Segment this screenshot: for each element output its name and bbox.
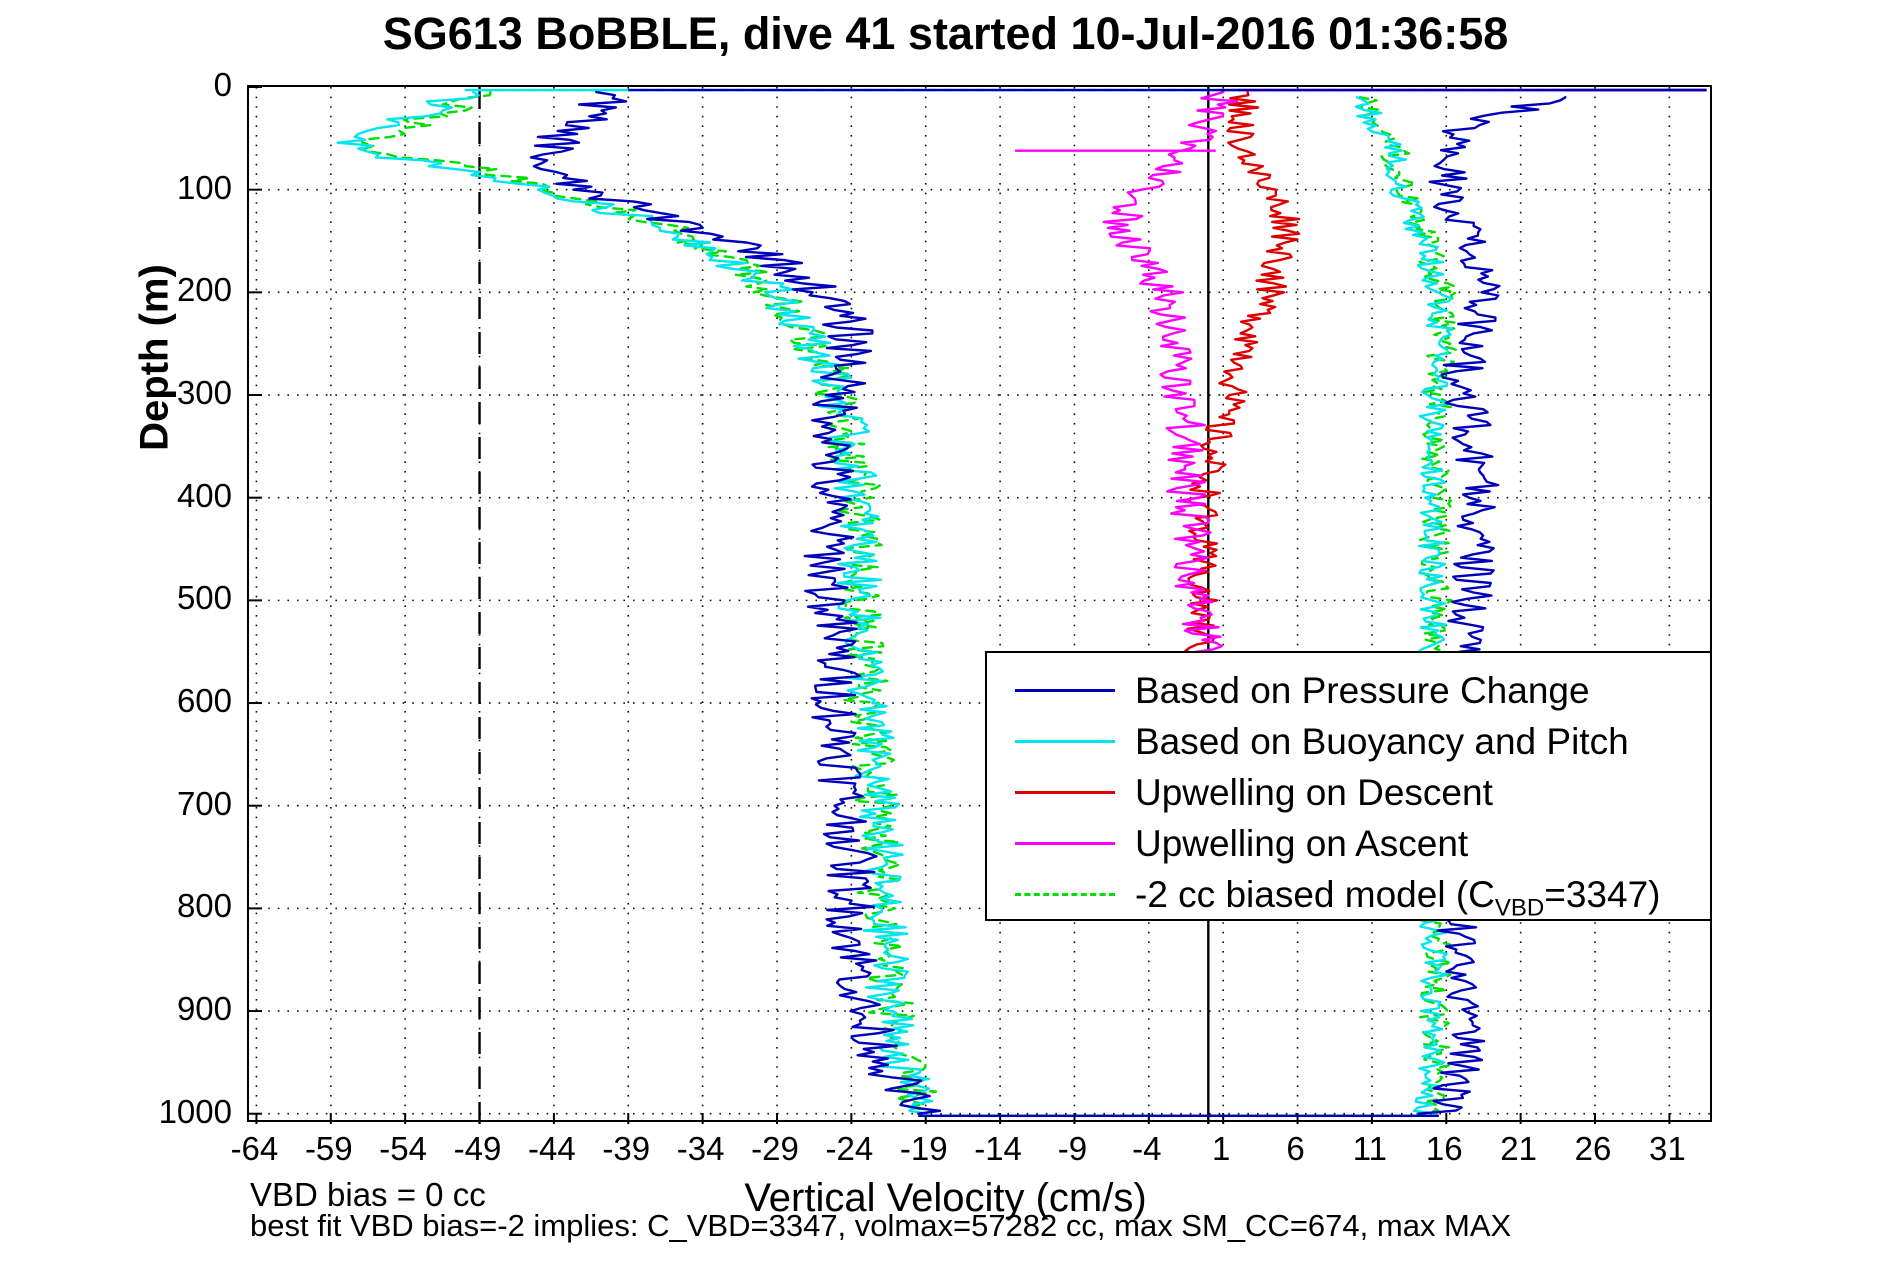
y-tick-label: 700 bbox=[112, 785, 232, 823]
y-axis-label: Depth (m) bbox=[133, 138, 178, 578]
legend-entry[interactable]: Upwelling on Descent bbox=[987, 767, 1714, 819]
y-tick-label: 1000 bbox=[112, 1093, 232, 1131]
y-tick-label: 600 bbox=[112, 682, 232, 720]
y-tick-label: 0 bbox=[112, 66, 232, 104]
plot-svg bbox=[249, 87, 1714, 1124]
figure-caption: best fit VBD bias=-2 implies: C_VBD=3347… bbox=[250, 1208, 1511, 1244]
y-tick-label: 900 bbox=[112, 990, 232, 1028]
figure-canvas: SG613 BoBBLE, dive 41 started 10-Jul-201… bbox=[0, 0, 1891, 1262]
legend-entry[interactable]: Based on Pressure Change bbox=[987, 665, 1714, 717]
y-tick-label: 800 bbox=[112, 887, 232, 925]
chart-title: SG613 BoBBLE, dive 41 started 10-Jul-201… bbox=[0, 8, 1891, 60]
x-tick-label: 31 bbox=[1607, 1130, 1727, 1168]
legend-label: Upwelling on Descent bbox=[1135, 767, 1493, 819]
legend-entry[interactable]: Upwelling on Ascent bbox=[987, 818, 1714, 870]
legend-swatch-solid bbox=[1015, 842, 1115, 845]
legend-label: Based on Pressure Change bbox=[1135, 665, 1590, 717]
legend-entry[interactable]: -2 cc biased model (CVBD=3347) bbox=[987, 869, 1714, 921]
plot-area bbox=[247, 85, 1712, 1122]
legend-swatch-solid bbox=[1015, 791, 1115, 794]
legend-label: -2 cc biased model (CVBD=3347) bbox=[1135, 869, 1660, 934]
y-tick-label: 500 bbox=[112, 579, 232, 617]
legend-swatch-dashed bbox=[1015, 893, 1115, 896]
legend-entry[interactable]: Based on Buoyancy and Pitch bbox=[987, 716, 1714, 768]
legend-swatch-solid bbox=[1015, 740, 1115, 743]
legend-label: Upwelling on Ascent bbox=[1135, 818, 1468, 870]
legend-label-subscript: VBD bbox=[1495, 894, 1544, 921]
legend-box: Based on Pressure ChangeBased on Buoyanc… bbox=[985, 651, 1712, 921]
legend-label: Based on Buoyancy and Pitch bbox=[1135, 716, 1629, 768]
legend-swatch-solid bbox=[1015, 689, 1115, 692]
